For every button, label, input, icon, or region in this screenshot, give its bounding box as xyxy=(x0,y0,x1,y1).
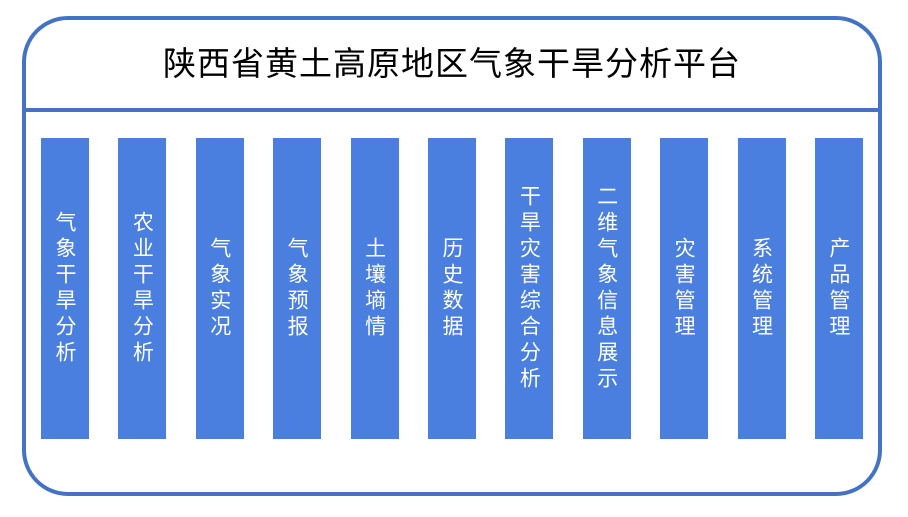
menu-item-label: 气象实况 xyxy=(207,237,233,341)
title-divider xyxy=(22,108,882,112)
menu-item-label: 系统管理 xyxy=(749,237,775,341)
title-band: 陕西省黄土高原地区气象干旱分析平台 xyxy=(26,20,878,108)
menu-item-label: 灾害管理 xyxy=(671,237,697,341)
menu-item-weather-forecast[interactable]: 气象预报 xyxy=(273,138,321,439)
menu-item-drought-disaster-comprehensive-analysis[interactable]: 干旱灾害综合分析 xyxy=(505,138,553,439)
menu-item-agricultural-drought-analysis[interactable]: 农业干旱分析 xyxy=(118,138,166,439)
menu-item-meteorological-drought-analysis[interactable]: 气象干旱分析 xyxy=(41,138,89,439)
menu-item-label: 历史数据 xyxy=(439,237,465,341)
menu-item-weather-observation[interactable]: 气象实况 xyxy=(196,138,244,439)
platform-root: 陕西省黄土高原地区气象干旱分析平台 气象干旱分析 农业干旱分析 气象实况 气象预… xyxy=(0,0,908,517)
menu-item-soil-moisture[interactable]: 土壤墒情 xyxy=(351,138,399,439)
menu-item-label: 二维气象信息展示 xyxy=(594,185,620,393)
menu-strip: 气象干旱分析 农业干旱分析 气象实况 气象预报 土壤墒情 历史数据 干旱灾害综合… xyxy=(41,138,863,439)
menu-item-label: 干旱灾害综合分析 xyxy=(516,185,542,393)
menu-item-label: 农业干旱分析 xyxy=(129,211,155,367)
page-title: 陕西省黄土高原地区气象干旱分析平台 xyxy=(163,46,741,82)
platform-frame: 陕西省黄土高原地区气象干旱分析平台 气象干旱分析 农业干旱分析 气象实况 气象预… xyxy=(22,16,882,496)
menu-item-label: 气象干旱分析 xyxy=(52,211,78,367)
menu-item-2d-weather-information-display[interactable]: 二维气象信息展示 xyxy=(583,138,631,439)
menu-item-label: 气象预报 xyxy=(284,237,310,341)
menu-item-disaster-management[interactable]: 灾害管理 xyxy=(660,138,708,439)
menu-item-historical-data[interactable]: 历史数据 xyxy=(428,138,476,439)
menu-item-label: 产品管理 xyxy=(826,237,852,341)
menu-item-label: 土壤墒情 xyxy=(362,237,388,341)
menu-item-system-management[interactable]: 系统管理 xyxy=(738,138,786,439)
menu-item-product-management[interactable]: 产品管理 xyxy=(815,138,863,439)
